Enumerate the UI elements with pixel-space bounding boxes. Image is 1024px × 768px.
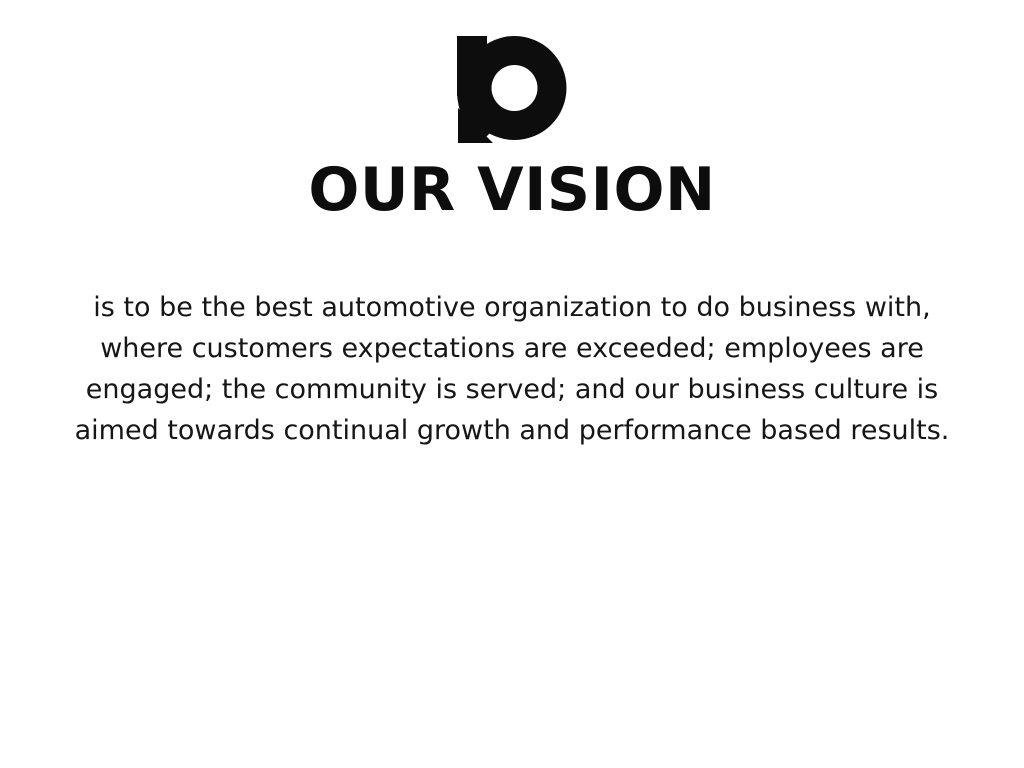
page-title-container: OUR VISION	[0, 160, 1024, 220]
vision-statement-line: aimed towards continual growth and perfo…	[47, 410, 977, 451]
vision-statement-line: is to be the best automotive organizatio…	[47, 287, 977, 328]
vision-statement: is to be the best automotive organizatio…	[47, 287, 977, 451]
b-monogram-logo-icon	[454, 30, 570, 148]
vision-statement-line: engaged; the community is served; and ou…	[47, 369, 977, 410]
vision-statement-line: where customers expectations are exceede…	[47, 328, 977, 369]
page-title: OUR VISION	[0, 160, 1024, 220]
empty-content-area	[0, 460, 1024, 768]
logo-container	[0, 30, 1024, 152]
slide-canvas: OUR VISION is to be the best automotive …	[0, 0, 1024, 768]
